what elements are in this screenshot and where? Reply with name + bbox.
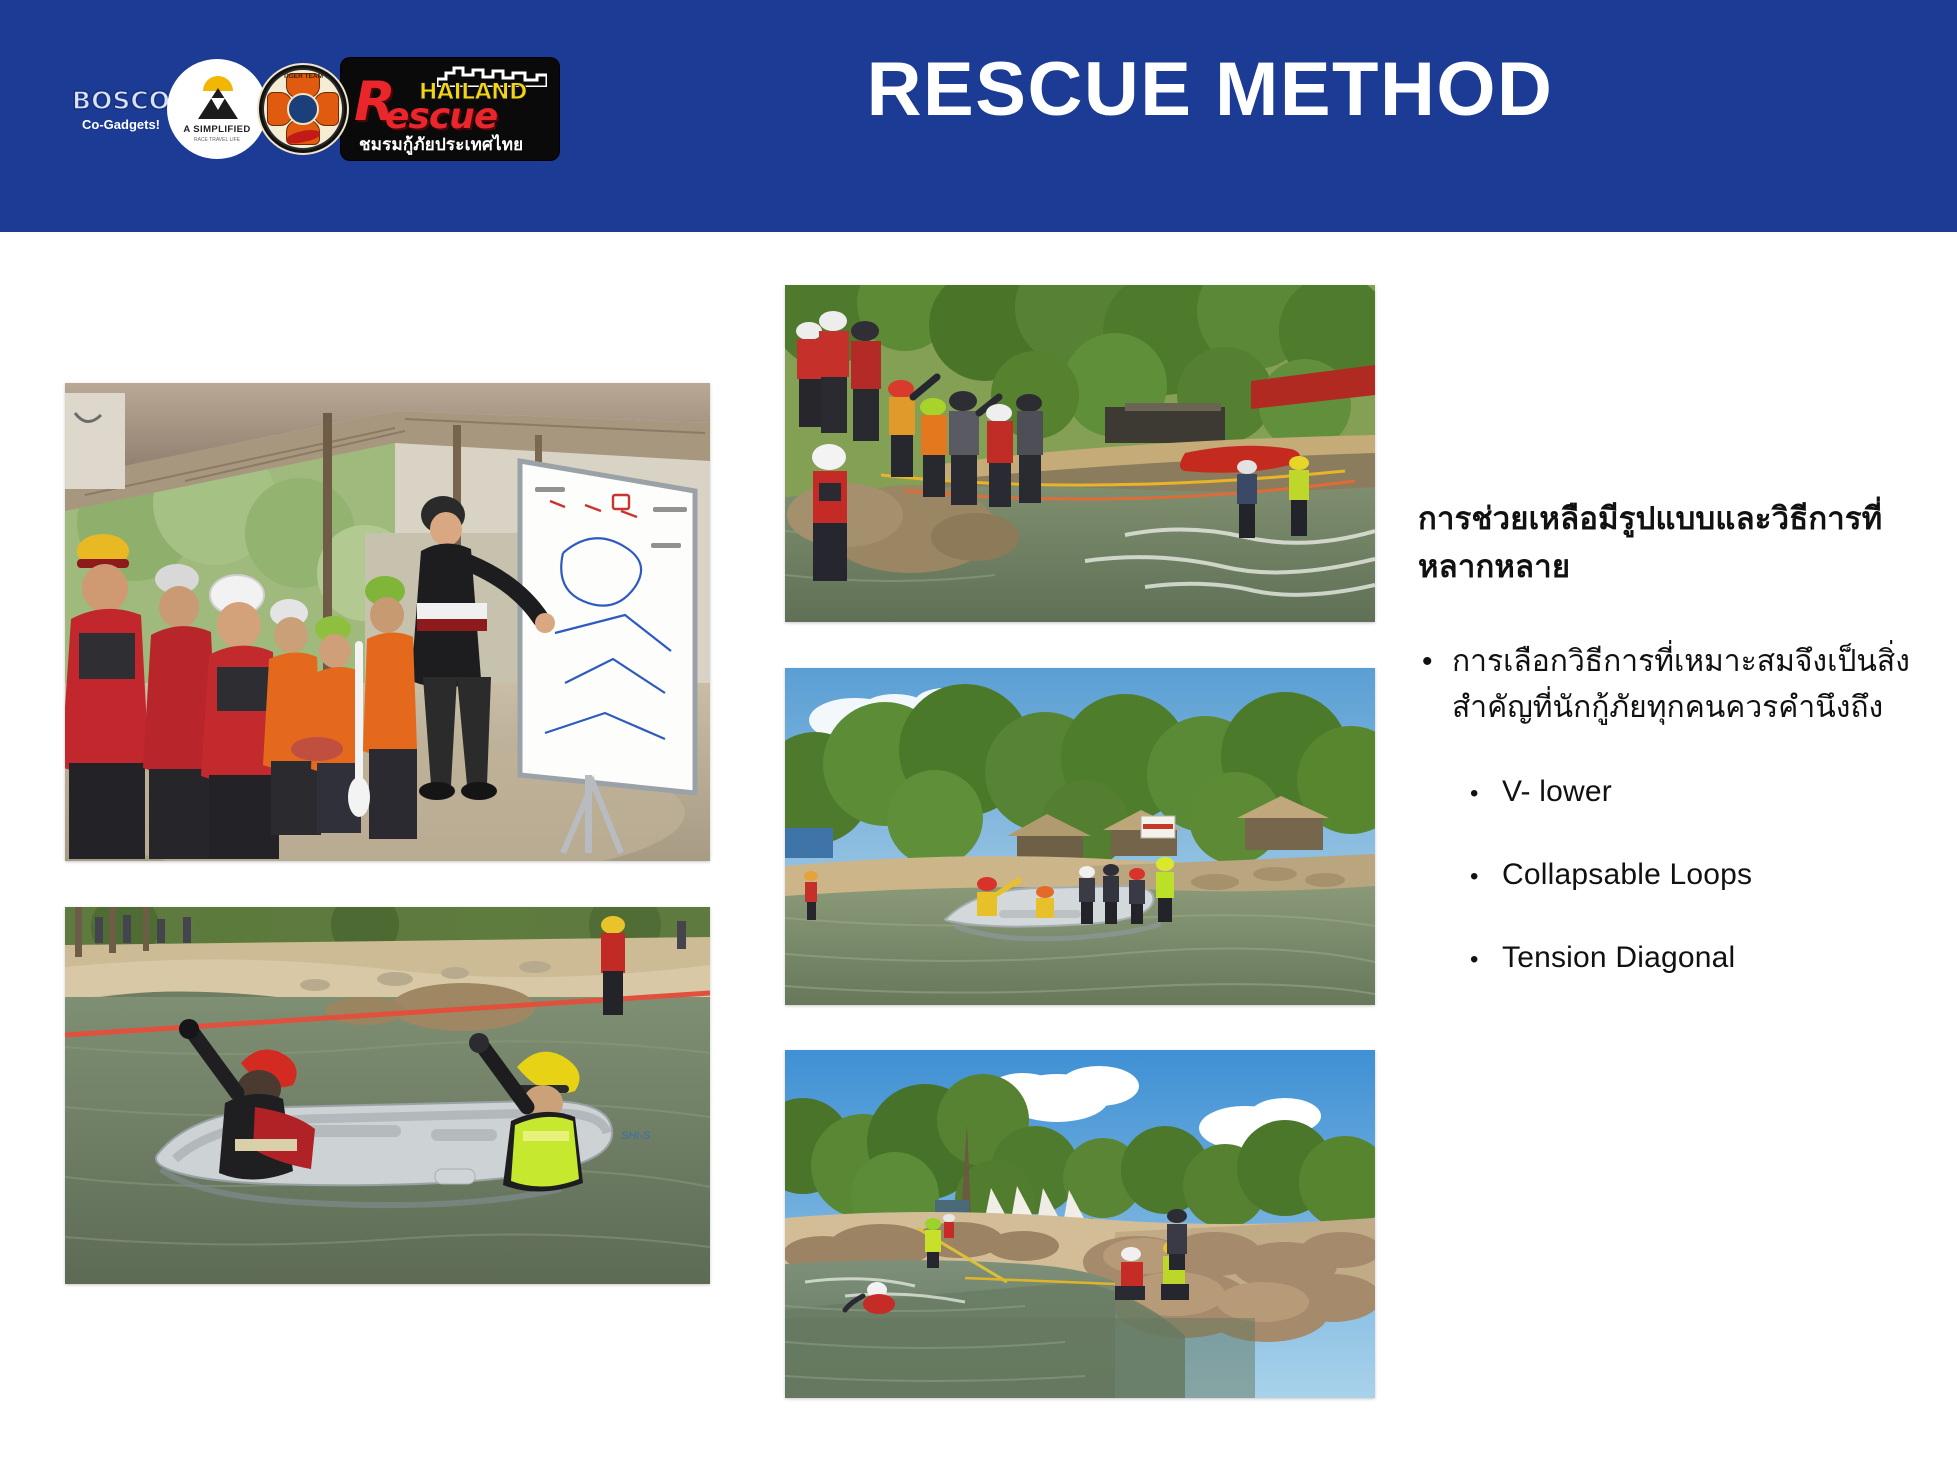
sub-bullet-marker: • <box>1470 946 1502 974</box>
slide-root: BOSCO Co-Gadgets! A SIMPLIFIED RACE TRAV… <box>0 0 1957 1470</box>
primary-bullet: • การเลือกวิธีการที่เหมาะสมจึงเป็นสิ่งสำ… <box>1418 639 1918 730</box>
sub-bullet-marker: • <box>1470 863 1502 891</box>
fire-maltese-cross-badge: TIGER TEAM <box>257 63 349 155</box>
thailand-rescue-thai-text: ชมรมกู้ภัยประเทศไทย <box>359 136 523 153</box>
photo-boat-tension-line: SHI-S <box>65 907 710 1284</box>
logo-group: BOSCO Co-Gadgets! A SIMPLIFIED RACE TRAV… <box>75 53 500 165</box>
photo-team-on-rocks-river <box>785 285 1375 622</box>
sub-bullet-text: Collapsable Loops <box>1502 855 1752 894</box>
sub-bullet-tension-diagonal: • Tension Diagonal <box>1470 938 1918 977</box>
simplified-label: A SIMPLIFIED <box>183 124 250 135</box>
thai-heading: การช่วยเหลือมีรูปแบบและวิธีการที่หลากหลา… <box>1418 495 1918 591</box>
simplified-logo: A SIMPLIFIED RACE TRAVEL LIFE <box>167 59 267 159</box>
photo-river-rocks-crossing <box>785 1050 1375 1398</box>
thailand-wordmark: HAILAND <box>419 82 527 104</box>
sub-bullet-text: V- lower <box>1502 772 1612 811</box>
sub-bullet-marker: • <box>1470 780 1502 808</box>
svg-text:SHI-S: SHI-S <box>621 1130 651 1142</box>
slide-header: BOSCO Co-Gadgets! A SIMPLIFIED RACE TRAV… <box>0 0 1957 232</box>
photo-boat-at-riverbank <box>785 668 1375 1005</box>
bosco-logo: BOSCO Co-Gadgets! <box>75 74 167 144</box>
sub-bullet-text: Tension Diagonal <box>1502 938 1735 977</box>
sub-bullet-v-lower: • V- lower <box>1470 772 1918 811</box>
primary-bullet-text: การเลือกวิธีการที่เหมาะสมจึงเป็นสิ่งสำคั… <box>1452 639 1918 730</box>
content-text-column: การช่วยเหลือมีรูปแบบและวิธีการที่หลากหลา… <box>1418 495 1918 1021</box>
sub-bullet-collapsable-loops: • Collapsable Loops <box>1470 855 1918 894</box>
bosco-wordmark: BOSCO <box>72 88 170 113</box>
tiger-team-label: TIGER TEAM <box>259 74 347 81</box>
bullet-marker: • <box>1418 639 1452 730</box>
bosco-tagline: Co-Gadgets! <box>82 118 160 131</box>
photo-briefing-whiteboard <box>65 383 710 861</box>
simplified-sublabel: RACE TRAVEL LIFE <box>194 137 240 143</box>
mountain-sun-icon <box>191 76 243 122</box>
sub-bullet-list: • V- lower • Collapsable Loops • Tension… <box>1418 772 1918 977</box>
page-title: RESCUE METHOD <box>520 48 1900 132</box>
